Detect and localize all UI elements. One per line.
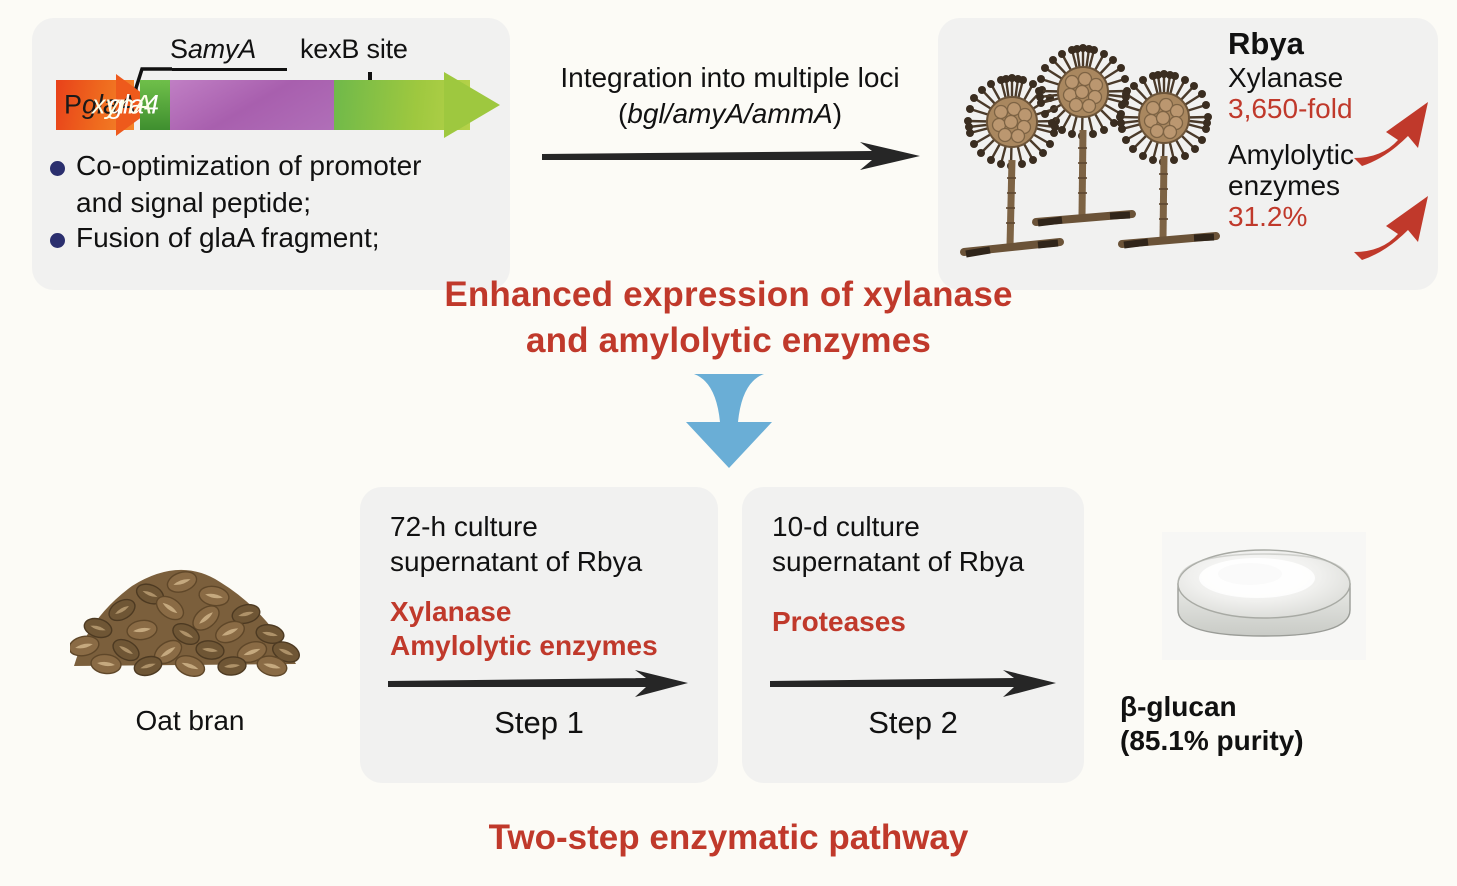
integration-loci: bgl/amyA/ammA <box>627 98 832 129</box>
center-heading-line1: Enhanced expression of xylanase <box>0 272 1457 318</box>
step-2-enzyme-1: Proteases <box>772 605 906 639</box>
step-1-arrow-icon <box>388 669 688 699</box>
samya-underline <box>172 68 287 71</box>
bullet-text-continuation: and signal peptide; <box>50 185 470 220</box>
step-2-panel: 10-d culture supernatant of Rbya Proteas… <box>742 487 1084 783</box>
aspergillus-conidiophores-icon <box>950 30 1220 280</box>
integration-caption: Integration into multiple loci (bgl/amyA… <box>530 60 930 132</box>
promoter-p: P <box>64 90 82 120</box>
bullet-item: Co-optimization of promoter <box>50 148 470 183</box>
integration-line1: Integration into multiple loci <box>530 60 930 96</box>
bottom-heading: Two-step enzymatic pathway <box>0 818 1457 858</box>
step-1-panel: 72-h culture supernatant of Rbya Xylanas… <box>360 487 718 783</box>
step-1-heading: 72-h culture supernatant of Rbya <box>390 509 642 579</box>
bullet-dot-icon <box>50 233 65 248</box>
bullet-text: Co-optimization of promoter <box>76 148 421 183</box>
xyna-arrowhead <box>444 72 500 138</box>
step-1-enzyme-1: Xylanase <box>390 595 658 629</box>
gene-cassette: PglaA gla4 xynA <box>56 80 496 130</box>
step-1-enzyme-2: Amylolytic enzymes <box>390 629 658 663</box>
integration-line2: (bgl/amyA/ammA) <box>530 96 930 132</box>
step-1-heading-line2: supernatant of Rbya <box>390 544 642 579</box>
step-2-heading-line1: 10-d culture <box>772 509 1024 544</box>
step-2-enzymes: Proteases <box>772 605 906 639</box>
petri-dish-icon <box>1162 532 1366 660</box>
samya-label-italic: amyA <box>188 34 256 64</box>
step-1-label: Step 1 <box>360 705 718 741</box>
center-heading-line2: and amylolytic enzymes <box>0 318 1457 364</box>
beta-glucan-dish-image <box>1162 532 1366 660</box>
increase-arrow-icon <box>1352 96 1438 174</box>
samya-label-prefix: S <box>170 34 188 64</box>
center-heading: Enhanced expression of xylanase and amyl… <box>0 272 1457 363</box>
increase-arrow-icon <box>1352 190 1438 268</box>
step-1-enzymes: Xylanase Amylolytic enzymes <box>390 595 658 662</box>
xyna-text: xynA <box>92 90 152 121</box>
step-2-heading: 10-d culture supernatant of Rbya <box>772 509 1024 579</box>
downward-flow-arrow-icon <box>672 368 786 474</box>
kexb-site-label: kexB site <box>300 34 408 65</box>
bullet-text: Fusion of glaA fragment; <box>76 220 380 255</box>
optimization-bullets: Co-optimization of promoter and signal p… <box>50 148 470 257</box>
bullet-item: Fusion of glaA fragment; <box>50 220 470 255</box>
step-2-label: Step 2 <box>742 705 1084 741</box>
product-purity: (85.1% purity) <box>1120 724 1420 758</box>
substrate-label: Oat bran <box>40 705 340 737</box>
metric-label: Xylanase <box>1228 62 1388 93</box>
segment-gene-gla4 <box>170 80 334 130</box>
step-1-heading-line1: 72-h culture <box>390 509 642 544</box>
oat-bran-pile-icon <box>70 548 310 688</box>
product-name: β-glucan <box>1120 690 1420 724</box>
step-2-heading-line2: supernatant of Rbya <box>772 544 1024 579</box>
bullet-dot-icon <box>50 161 65 176</box>
integration-arrow-icon <box>542 140 920 174</box>
samya-label: SamyA <box>170 34 256 65</box>
product-label: β-glucan (85.1% purity) <box>1120 690 1420 758</box>
strain-name: Rbya <box>1228 26 1388 62</box>
step-2-arrow-icon <box>770 669 1056 699</box>
